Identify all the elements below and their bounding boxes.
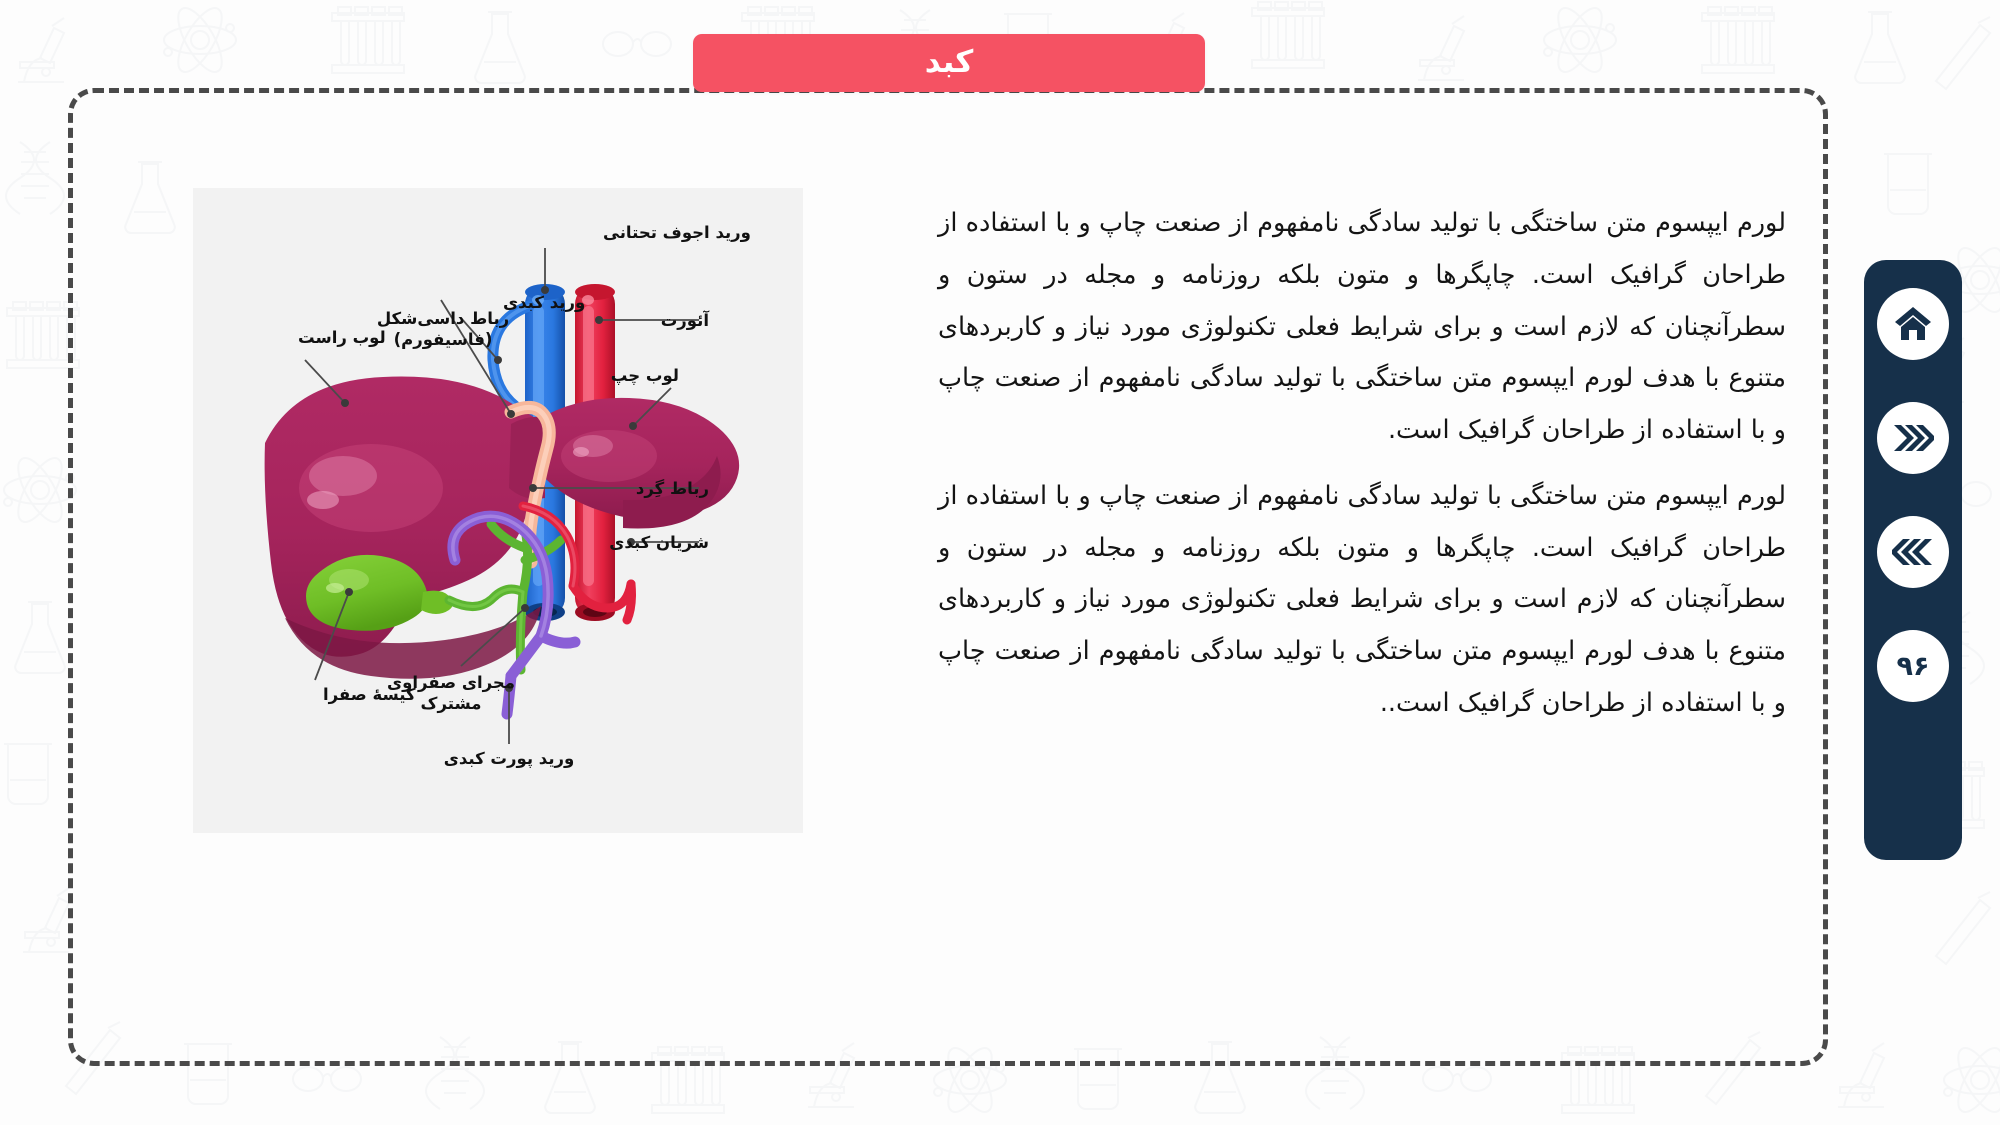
figure-label-hepatic-portal-vein: ورید پورت کبدی [444, 749, 575, 769]
body-paragraph-2: لورم ایپسوم متن ساختگی با تولید سادگی نا… [938, 471, 1786, 730]
figure-label-falciform-ligament-line2: (فاسیفورم) [394, 330, 493, 350]
figure-label-falciform-ligament-line1: رباط داسی‌شکل [377, 309, 509, 328]
figure-label-hepatic-vein: ورید کبدی [503, 293, 585, 313]
sidebar-button-home[interactable] [1877, 288, 1949, 360]
figure-label-right-lobe: لوب راست [298, 328, 386, 348]
figure-label-gallbladder: کیسهٔ صفرا [323, 685, 416, 705]
chevron-triple-left-icon [1892, 537, 1934, 567]
liver-anatomy-figure: ورید اجوف تحتانی ورید کبدی رباط داسی‌شکل… [193, 188, 803, 833]
sidebar-button-previous[interactable] [1877, 516, 1949, 588]
figure-label-left-lobe: لوب چپ [611, 366, 679, 386]
text-column: لورم ایپسوم متن ساختگی با تولید سادگی نا… [898, 88, 1828, 744]
content-row: لورم ایپسوم متن ساختگی با تولید سادگی نا… [68, 88, 1828, 1066]
figure-label-inferior-vena-cava: ورید اجوف تحتانی [603, 223, 751, 243]
figure-label-aorta: آئورت [661, 309, 710, 331]
sidebar-button-next[interactable] [1877, 402, 1949, 474]
chevron-triple-right-icon [1892, 423, 1934, 453]
page-title: کبد [925, 47, 974, 78]
navigation-sidebar: ۹۶ [1864, 260, 1962, 860]
body-paragraph-1: لورم ایپسوم متن ساختگی با تولید سادگی نا… [938, 198, 1786, 457]
home-icon [1893, 305, 1933, 343]
page-number-label: ۹۶ [1897, 653, 1930, 680]
slide-canvas: کبد لورم ایپسوم متن ساختگی با تولید سادگ… [0, 0, 2000, 1125]
figure-label-round-ligament: رباط گِرد [636, 478, 709, 499]
sidebar-button-page-number[interactable]: ۹۶ [1877, 630, 1949, 702]
figure-label-hepatic-artery: شریان کبدی [609, 533, 709, 553]
slide-title-badge: کبد [693, 34, 1205, 92]
figure-column: ورید اجوف تحتانی ورید کبدی رباط داسی‌شکل… [98, 88, 898, 833]
figure-label-common-bile-duct-line2: مشترک [421, 694, 482, 714]
